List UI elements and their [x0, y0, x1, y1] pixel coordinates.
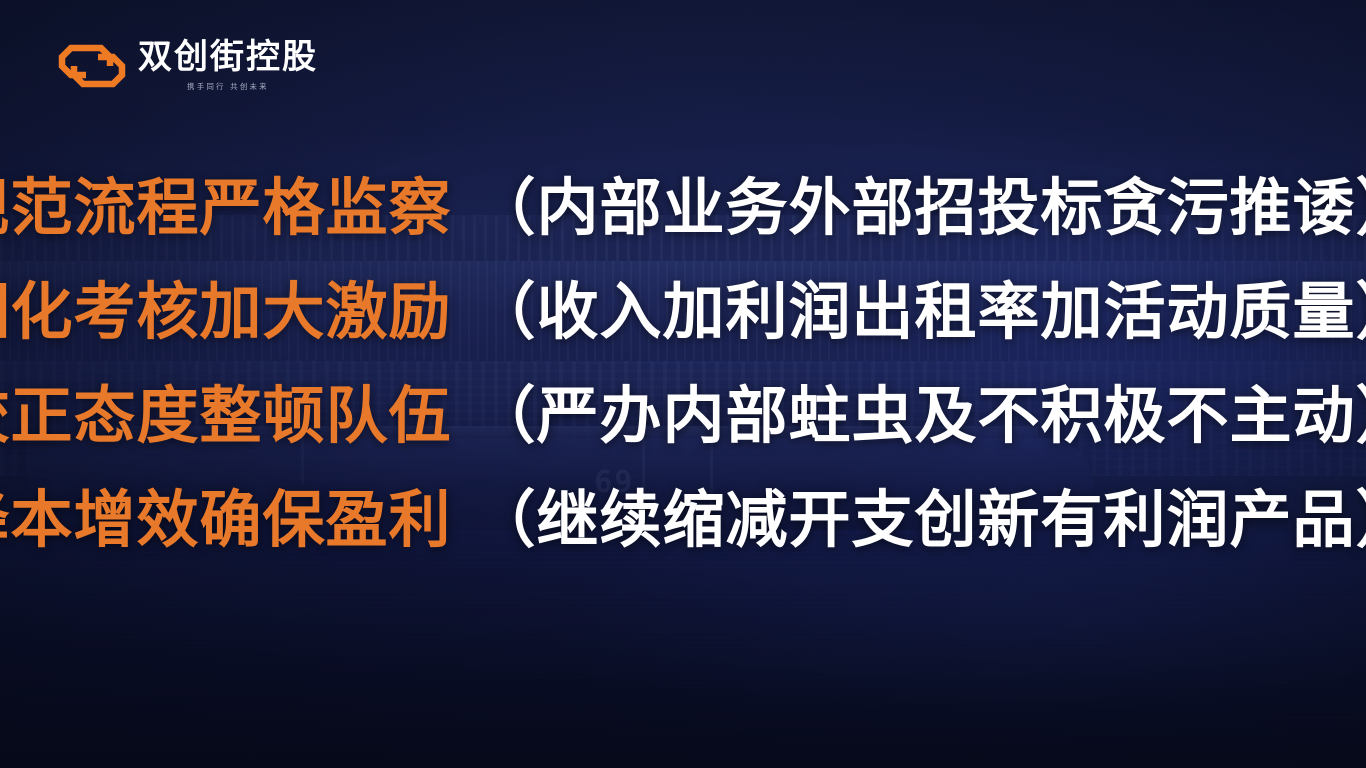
headline-note: （内部业务外部招投标贪污推诿） — [474, 178, 1366, 240]
brand-logo: 双创街控股 携手同行 共创未来 — [58, 38, 318, 94]
headline-row: 校正态度整顿队伍 （严办内部蛀虫及不积极不主动） — [0, 386, 1366, 448]
headline-row: 细化考核加大激励 （收入加利润出租率加活动质量） — [0, 282, 1366, 344]
headline-note: （继续缩减开支创新有利润产品） — [474, 490, 1366, 552]
headline-note: （严办内部蛀虫及不积极不主动） — [474, 386, 1366, 448]
presentation-slide: 69 双创街控股 携手同行 共创未来 规范流程严格监察 — [0, 0, 1366, 768]
headline-key: 校正态度整顿队伍 — [0, 386, 452, 448]
brand-slogan: 携手同行 共创未来 — [145, 81, 311, 91]
brand-name: 双创街控股 — [138, 40, 318, 76]
headline-note: （收入加利润出租率加活动质量） — [474, 282, 1366, 344]
headline-key: 规范流程严格监察 — [0, 178, 452, 240]
interlocking-s-hexagon-icon — [58, 38, 126, 94]
headline-row: 规范流程严格监察 （内部业务外部招投标贪污推诿） — [0, 178, 1366, 240]
brand-logo-text: 双创街控股 携手同行 共创未来 — [138, 40, 318, 92]
headline-row: 降本增效确保盈利 （继续缩减开支创新有利润产品） — [0, 490, 1366, 552]
headline-list: 规范流程严格监察 （内部业务外部招投标贪污推诿） 细化考核加大激励 （收入加利润… — [0, 178, 1366, 552]
headline-key: 细化考核加大激励 — [0, 282, 452, 344]
headline-key: 降本增效确保盈利 — [0, 490, 452, 552]
